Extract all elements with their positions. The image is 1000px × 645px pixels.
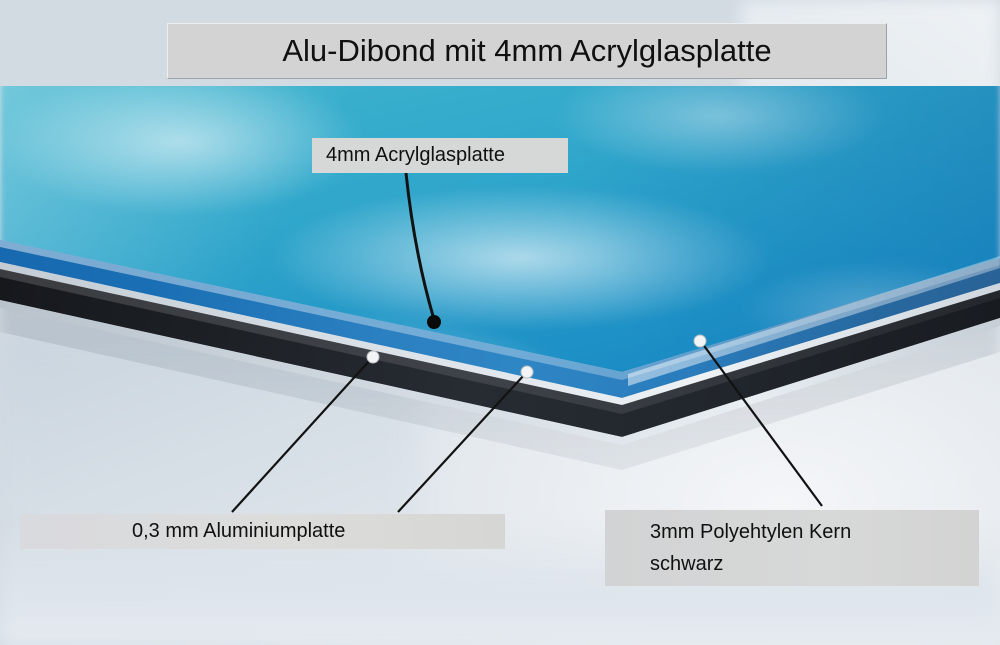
callout-label-aluminium: 0,3 mm Aluminiumplatte <box>20 514 505 549</box>
callout-label-aluminium-text: 0,3 mm Aluminiumplatte <box>132 520 345 543</box>
callout-label-polyethylen-line2: schwarz <box>650 548 979 580</box>
page-title-text: Alu-Dibond mit 4mm Acrylglasplatte <box>282 33 771 69</box>
callout-label-acrylglas: 4mm Acrylglasplatte <box>312 138 568 173</box>
product-illustration: Alu-Dibond mit 4mm Acrylglasplatte 4mm A… <box>0 0 1000 645</box>
page-title: Alu-Dibond mit 4mm Acrylglasplatte <box>167 23 887 79</box>
callout-label-polyethylen-line1: 3mm Polyehtylen Kern <box>650 516 979 548</box>
callout-label-acrylglas-text: 4mm Acrylglasplatte <box>326 144 505 167</box>
callout-label-polyethylen: 3mm Polyehtylen Kern schwarz <box>605 510 979 586</box>
